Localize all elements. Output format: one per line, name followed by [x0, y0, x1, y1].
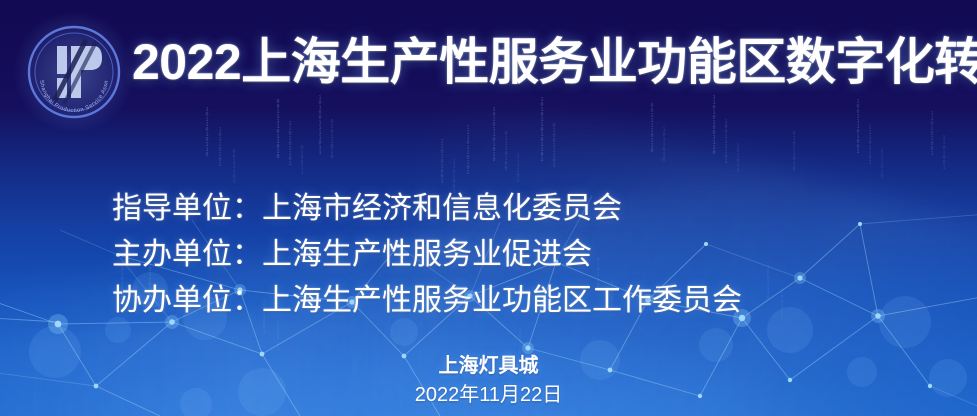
event-date: 2022年11月22日 [0, 380, 977, 410]
credit-line-coorganizer: 协办单位：上海生产性服务业功能区工作委员会 [112, 278, 872, 324]
logo-seal-icon: Shanghai Production Service Assn [24, 22, 124, 122]
digital-rain-streak: 1 0 1 0 1 1 0 1 0 1 1 0 1 [540, 98, 544, 163]
digital-rain-streak: 1 0 1 1 0 1 0 1 [218, 128, 222, 168]
digital-rain-streak: 1 1 0 1 0 0 1 [942, 136, 946, 171]
digital-rain-streak: 0 1 0 0 1 1 1 0 1 [552, 124, 556, 169]
digital-rain-streak: 1 1 1 0 1 1 0 1 0 1 [466, 126, 470, 176]
digital-rain-streak: 1 1 1 0 1 1 [276, 322, 280, 352]
credit-line-organizer: 主办单位：上海生产性服务业促进会 [112, 232, 872, 278]
digital-rain-streak: 0 0 1 1 1 0 1 [232, 150, 236, 185]
digital-rain-streak: 0 1 1 1 0 1 0 0 [504, 132, 508, 172]
digital-rain-streak: 0 0 1 1 1 1 0 1 1 0 1 0 [276, 100, 280, 160]
digital-rain-streak: 1 0 1 0 1 1 0 1 0 1 0 [492, 108, 496, 163]
digital-rain-streak: 1 1 0 1 0 1 1 0 1 [288, 122, 292, 167]
event-venue: 上海灯具城 [0, 352, 977, 380]
footer-block: 上海灯具城 2022年11月22日 [0, 352, 977, 410]
digital-rain-streak: 0 1 0 1 1 0 1 0 [792, 132, 796, 172]
association-logo: Shanghai Production Service Assn [24, 22, 124, 122]
digital-rain-streak: 1 0 0 1 1 1 0 1 0 0 1 [856, 100, 860, 155]
digital-rain-streak: 1 1 1 1 0 1 [516, 154, 520, 184]
digital-rain-streak: 1 1 0 1 0 1 0 0 1 1 1 0 [712, 96, 716, 156]
digital-rain-streak: 1 0 0 1 1 1 1 0 1 [724, 120, 728, 165]
page-title: 2022上海生产性服务业功能区数字化转型论坛 [132, 26, 968, 98]
digital-rain-streak: 1 0 1 0 0 1 1 1 1 0 1 1 [318, 96, 322, 156]
digital-rain-streak: 0 1 0 0 1 1 [300, 146, 304, 176]
credit-line-guidance: 指导单位：上海市经济和信息化委员会 [112, 186, 872, 232]
credits-block: 指导单位：上海市经济和信息化委员会 主办单位：上海生产性服务业促进会 协办单位：… [112, 186, 872, 324]
digital-rain-streak: 1 1 0 1 0 1 0 0 1 [440, 140, 444, 185]
digital-rain-streak: 0 1 1 0 1 0 [880, 150, 884, 180]
digital-rain-streak: 1 1 0 1 0 1 0 0 1 [930, 112, 934, 157]
digital-rain-streak: 1 0 1 0 1 1 [736, 144, 740, 174]
digital-rain-streak: 0 0 1 1 1 1 0 1 1 0 [650, 104, 654, 154]
digital-rain-streak: 0 1 0 1 1 0 1 0 [330, 120, 334, 160]
digital-rain-streak: 1 0 1 1 0 1 0 [662, 128, 666, 163]
digital-rain-streak: 1 0 1 1 0 1 0 1 1 0 [205, 108, 209, 158]
digital-rain-streak: 1 1 1 0 1 1 0 1 [868, 126, 872, 166]
forum-poster: 1 0 1 1 0 1 0 1 1 0 1 0 1 1 0 1 0 1 0 0 … [0, 0, 977, 416]
